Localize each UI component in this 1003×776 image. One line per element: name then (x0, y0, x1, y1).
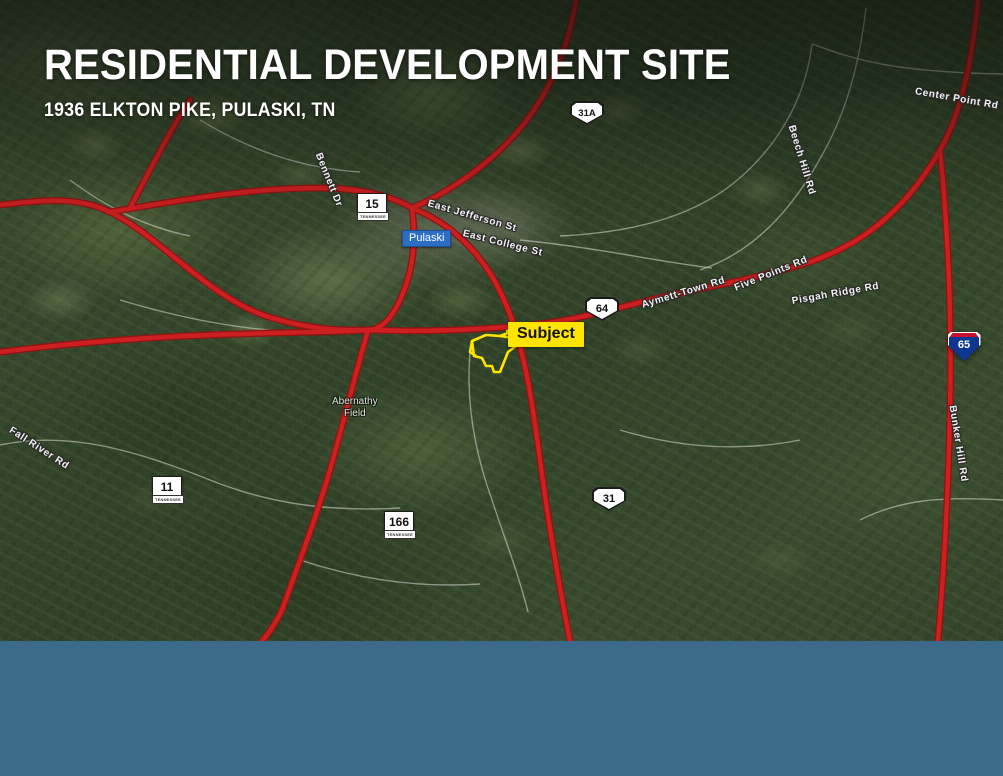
city-label-pulaski[interactable]: Pulaski (402, 230, 451, 247)
place-label: AbernathyField (332, 396, 378, 419)
page-subtitle: 1936 ELKTON PIKE, PULASKI, TN (44, 100, 731, 122)
highway-shield-15[interactable]: 15TENNESSEE (357, 193, 387, 214)
highway-shield-31[interactable]: 31 (592, 487, 626, 511)
subject-callout-label[interactable]: Subject (508, 322, 584, 347)
footer-bar: CONTACT FOR MORE INFORMATION Eric S. Dee… (0, 641, 1003, 776)
highway-shield-166[interactable]: 166TENNESSEE (384, 511, 414, 532)
marketing-flyer: RESIDENTIAL DEVELOPMENT SITE 1936 ELKTON… (0, 0, 1003, 776)
highway-shield-65[interactable]: 65 (949, 333, 979, 359)
shield-sublabel: TENNESSEE (357, 212, 389, 221)
title-block: RESIDENTIAL DEVELOPMENT SITE 1936 ELKTON… (44, 44, 782, 122)
aerial-map[interactable]: RESIDENTIAL DEVELOPMENT SITE 1936 ELKTON… (0, 0, 1003, 641)
highway-shield-64[interactable]: 64 (585, 297, 619, 321)
shield-sublabel: TENNESSEE (384, 530, 416, 539)
page-title: RESIDENTIAL DEVELOPMENT SITE (44, 44, 731, 87)
shield-sublabel: TENNESSEE (152, 495, 184, 504)
highway-shield-11[interactable]: 11TENNESSEE (152, 476, 182, 497)
highway-shield-31a[interactable]: 31A (570, 101, 604, 125)
